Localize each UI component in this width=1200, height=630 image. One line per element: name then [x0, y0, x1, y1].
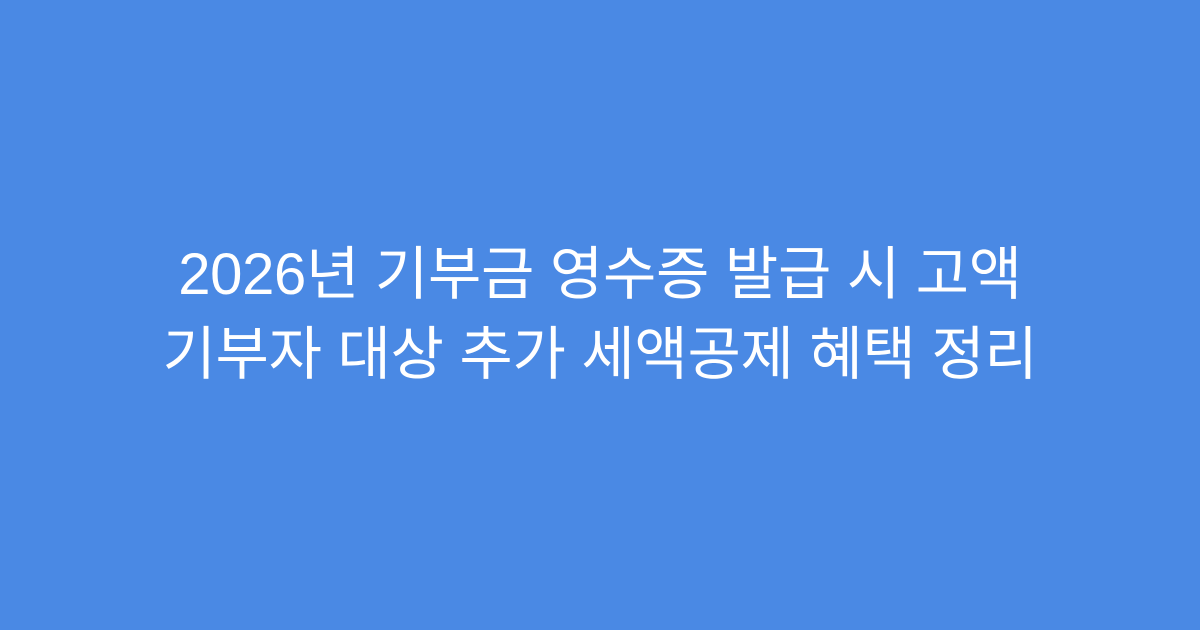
page-title-line-1: 2026년 기부금 영수증 발급 시 고액 [60, 235, 1140, 315]
og-thumbnail-card: 2026년 기부금 영수증 발급 시 고액 기부자 대상 추가 세액공제 혜택 … [0, 0, 1200, 630]
page-title: 2026년 기부금 영수증 발급 시 고액 기부자 대상 추가 세액공제 혜택 … [60, 235, 1140, 395]
page-title-line-2: 기부자 대상 추가 세액공제 혜택 정리 [60, 315, 1140, 395]
